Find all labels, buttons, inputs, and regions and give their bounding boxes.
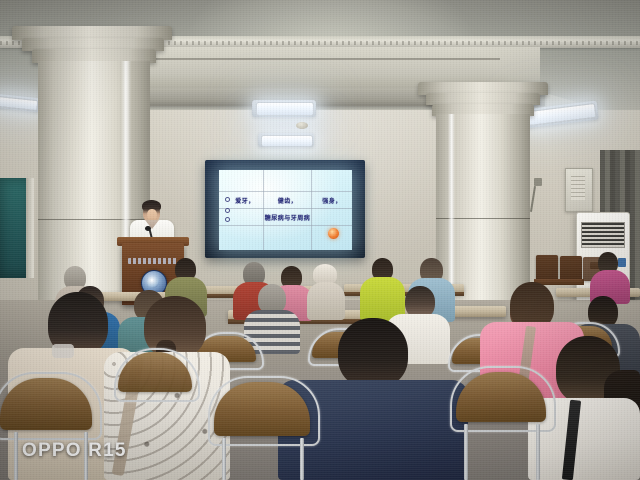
wall-junction-box [534,178,542,186]
slide-bullet-2 [225,208,230,213]
column-left-seam [38,219,150,220]
chair-frame-f3[interactable] [450,366,556,432]
attendee-bucket-hat-head [313,264,337,284]
ceiling-smoke-detector [296,122,308,129]
photo-frame: 爱牙， 健齿， 强身， 糖尿病与牙周病 [0,0,640,480]
ceiling-lamp-front [256,102,314,116]
slide-bullet-1 [225,197,230,202]
slide-header-cell-2: 健齿， [264,192,311,208]
emblem-inner-ring [147,276,159,288]
chair-leg-f3a [464,424,468,480]
wall-panel-grille [571,176,585,200]
podium-nameplate [128,258,178,264]
chair-leg-f3b [536,424,540,480]
chair-leg-f2b [300,438,304,480]
projection-screen-frame: 爱牙， 健齿， 强身， 糖尿病与牙周病 [205,160,365,258]
projection-screen-surface: 爱牙， 健齿， 强身， 糖尿病与牙周病 [219,170,352,250]
wooden-chair-2-seat [558,279,584,285]
attendee-beige-shirt-mask [52,344,74,358]
chalkboard-frame [26,178,33,278]
slide-gridline-v2 [311,170,312,250]
slide-header-cell-1: 爱牙， [227,192,263,208]
ceiling-lamp-back [261,135,313,147]
chair-frame-f1[interactable] [0,372,102,440]
wooden-chair-1 [536,255,558,281]
chair-leg-f2a [222,438,226,480]
ac-air-vent [581,222,625,248]
slide-header-cell-3: 强身， [312,192,352,208]
slide-orange-logo [328,228,339,239]
camera-watermark: OPPO R15 [22,440,127,462]
ac-brand-badge [618,258,626,267]
slide-gridline-h3 [219,225,352,226]
slide-bullet-3 [225,217,230,222]
attendee-navy-shirt-head [338,318,408,388]
chair-frame-f2[interactable] [208,376,320,446]
attendee-bucket-hat [307,282,345,320]
chair-leg-f1a [14,432,18,480]
soffit-seam [140,58,500,60]
podium-microphone [145,226,151,231]
slide-body-cell-2: 糖尿病与牙周病 [264,209,311,225]
wooden-chair-2 [560,256,582,281]
